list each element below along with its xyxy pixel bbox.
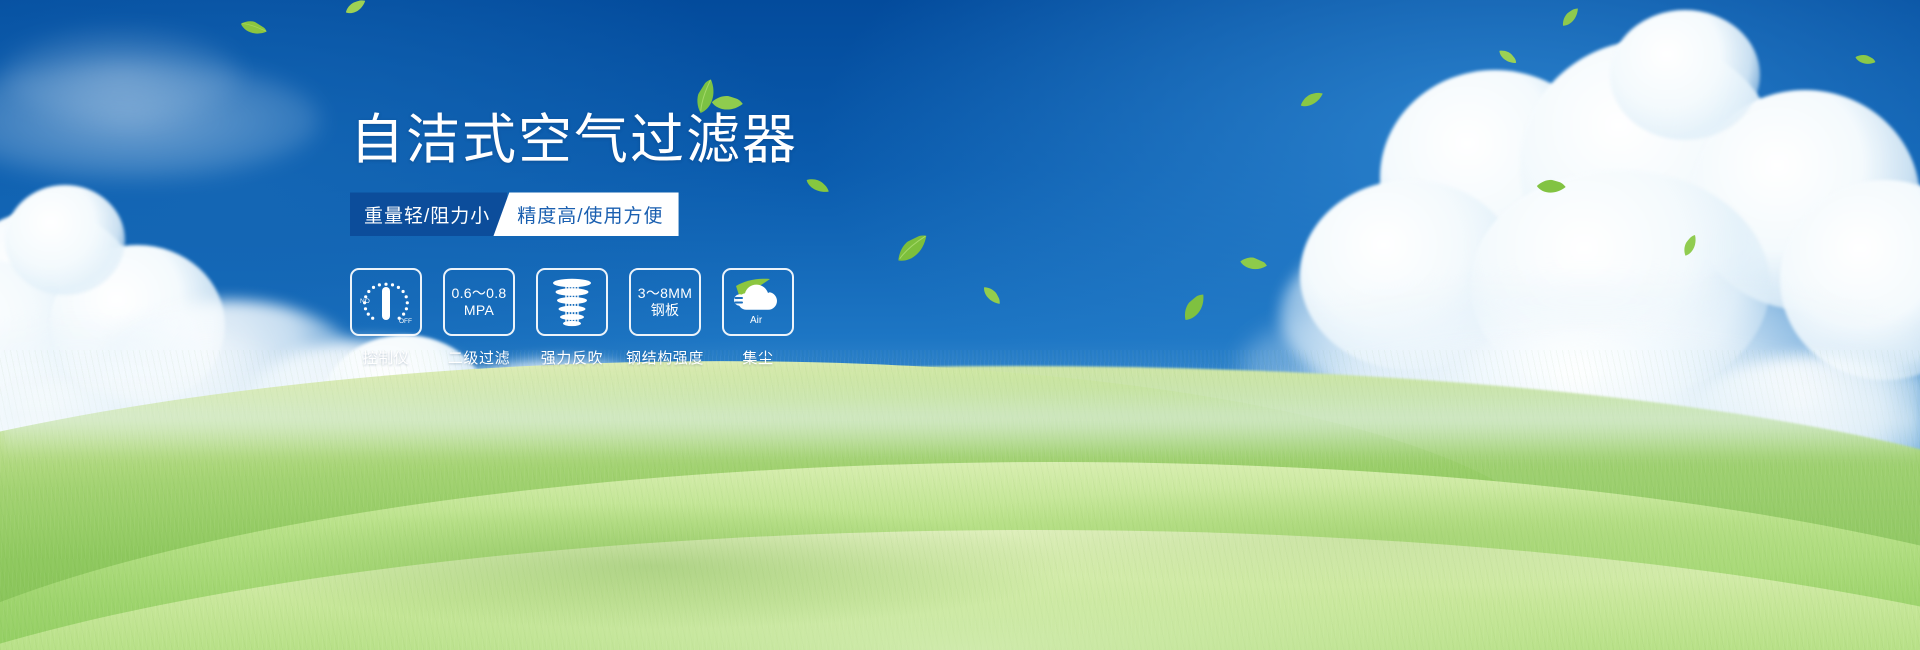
steel-plate-text-icon: 3～8MM 钢板 [638, 285, 692, 319]
control-dial-icon: NO OFF [359, 277, 413, 327]
grass-field [0, 350, 1920, 650]
feature-item-blowback[interactable]: 强力反吹 [536, 268, 608, 368]
feature-icon-box: NO OFF [350, 268, 422, 336]
air-cloud-icon: Air [730, 278, 786, 326]
feature-item-steel[interactable]: 3～8MM 钢板 钢结构强度 [629, 268, 701, 368]
tag-lightweight-lowresistance[interactable]: 重量轻/阻力小 [350, 192, 507, 236]
tag-precision-easyuse[interactable]: 精度高/使用方便 [493, 192, 678, 236]
feature-icon-box: Air [722, 268, 794, 336]
feature-icon-box: 0.6～0.8 MPA [443, 268, 515, 336]
pressure-text-icon: 0.6～0.8 MPA [451, 285, 506, 319]
dial-on-label: NO [360, 298, 370, 305]
feature-list: NO OFF 控制仪 0.6～0.8 MPA 二级过滤 [350, 268, 970, 368]
dial-off-label: OFF [399, 318, 412, 325]
pressure-line-1: 0.6～0.8 [451, 285, 506, 301]
pressure-line-2: MPA [451, 302, 506, 319]
tag-bar: 重量轻/阻力小 精度高/使用方便 [350, 192, 676, 236]
hero-banner: 自洁式空气过滤器 重量轻/阻力小 精度高/使用方便 [0, 0, 1920, 650]
blowback-coil-icon [547, 276, 597, 328]
feature-item-dust[interactable]: Air 集尘 [722, 268, 794, 368]
air-label: Air [750, 315, 763, 326]
feature-item-pressure[interactable]: 0.6～0.8 MPA 二级过滤 [443, 268, 515, 368]
feature-label: 强力反吹 [541, 347, 603, 368]
feature-label: 控制仪 [363, 347, 410, 368]
banner-content: 自洁式空气过滤器 重量轻/阻力小 精度高/使用方便 [350, 110, 970, 368]
feature-icon-box: 3～8MM 钢板 [629, 268, 701, 336]
steel-line-1: 3～8MM [638, 285, 692, 301]
grass-texture [0, 350, 1920, 650]
feature-item-control[interactable]: NO OFF 控制仪 [350, 268, 422, 368]
feature-label: 集尘 [742, 347, 773, 368]
feature-icon-box [536, 268, 608, 336]
page-title: 自洁式空气过滤器 [350, 110, 970, 170]
steel-line-2: 钢板 [638, 302, 692, 319]
feature-label: 二级过滤 [448, 347, 510, 368]
feature-label: 钢结构强度 [626, 347, 704, 368]
